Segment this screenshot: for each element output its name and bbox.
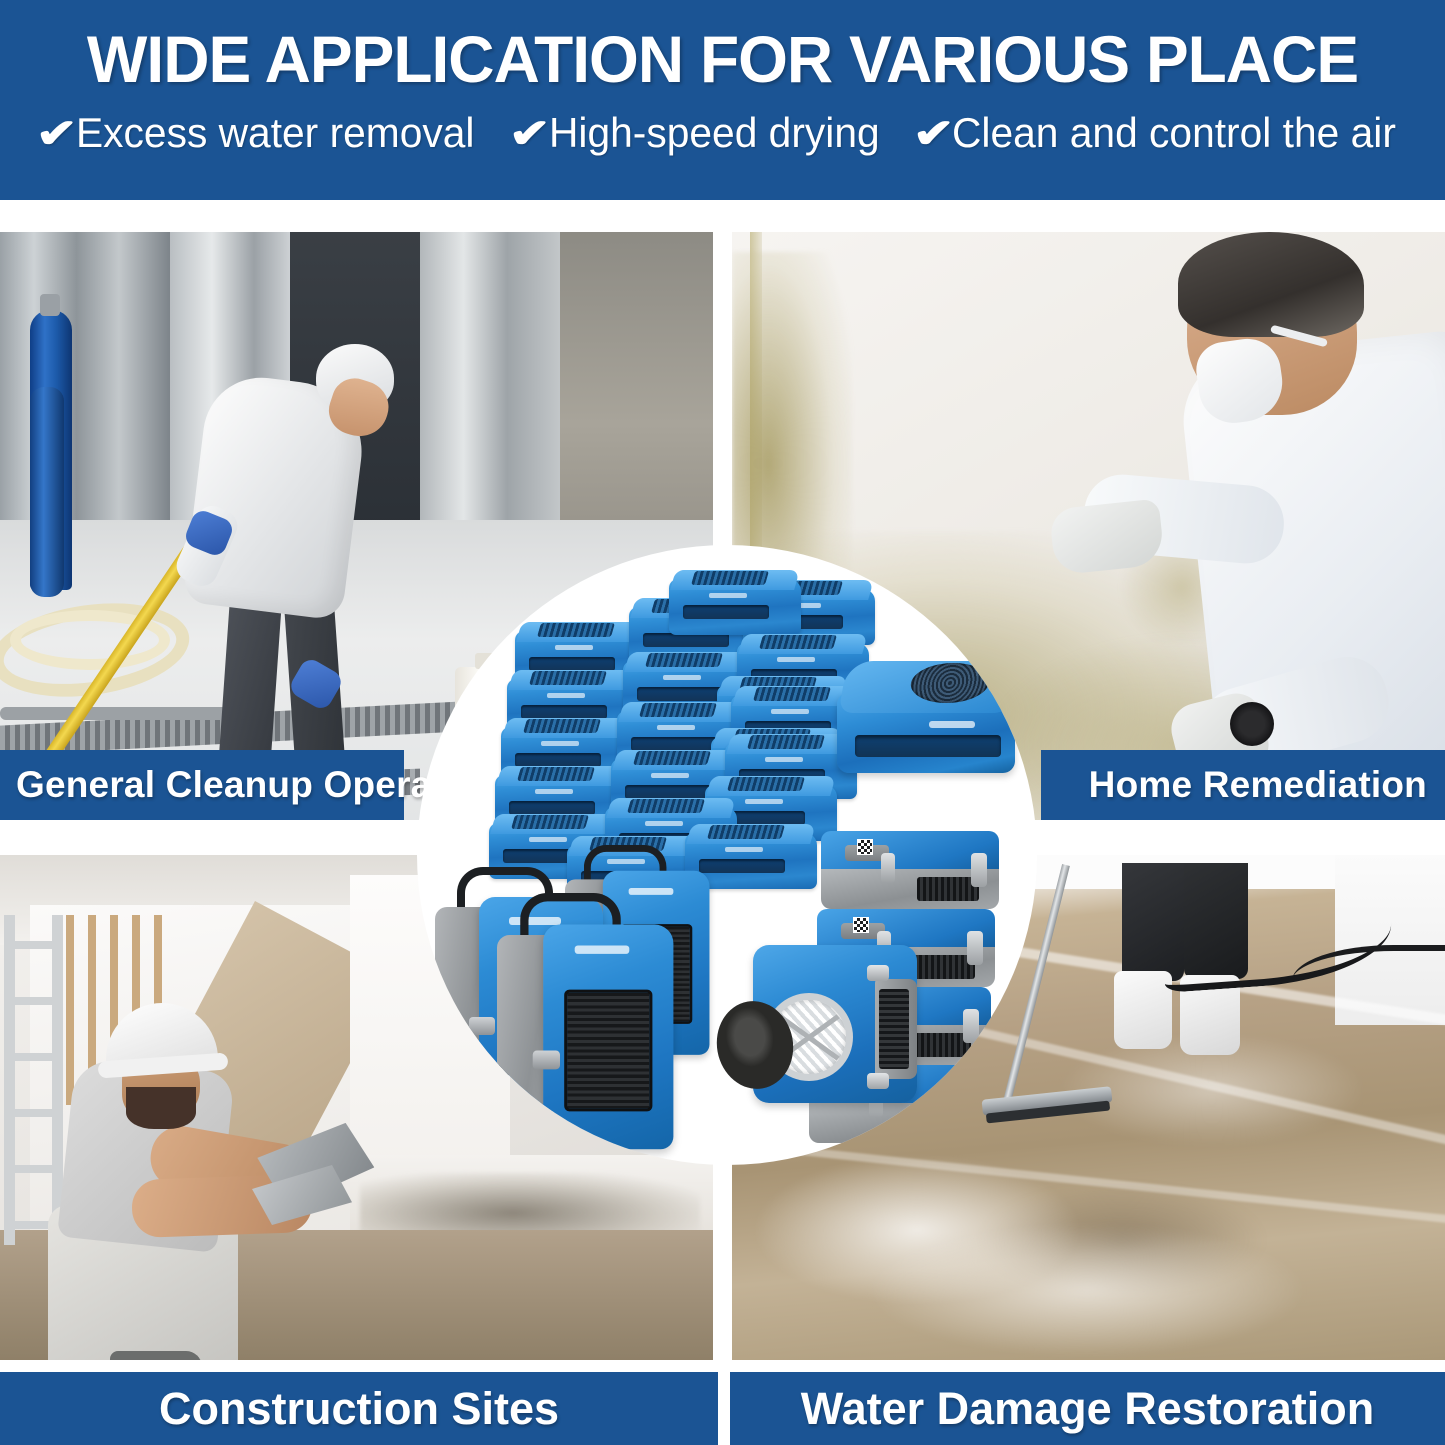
rubber-boot-icon (1114, 971, 1172, 1049)
air-scrubber-front (717, 945, 917, 1105)
label-construction-sites: Construction Sites (0, 1372, 718, 1445)
ladder-icon (0, 915, 66, 1245)
brand-logo (929, 721, 975, 728)
product-collage-circle (417, 545, 1037, 1165)
label-general-cleanup-operations: General Cleanup Operations (0, 750, 404, 820)
wristwatch-icon (1230, 702, 1274, 746)
label-text: Water Damage Restoration (801, 1383, 1374, 1435)
label-water-damage-restoration: Water Damage Restoration (730, 1372, 1445, 1445)
air-mover-single (837, 655, 1015, 773)
qr-code-icon (857, 839, 873, 855)
label-text: Construction Sites (159, 1383, 559, 1435)
qr-code-icon (853, 917, 869, 933)
wheel-icon (441, 1081, 503, 1143)
label-home-remediation: Home Remediation (1041, 750, 1445, 820)
